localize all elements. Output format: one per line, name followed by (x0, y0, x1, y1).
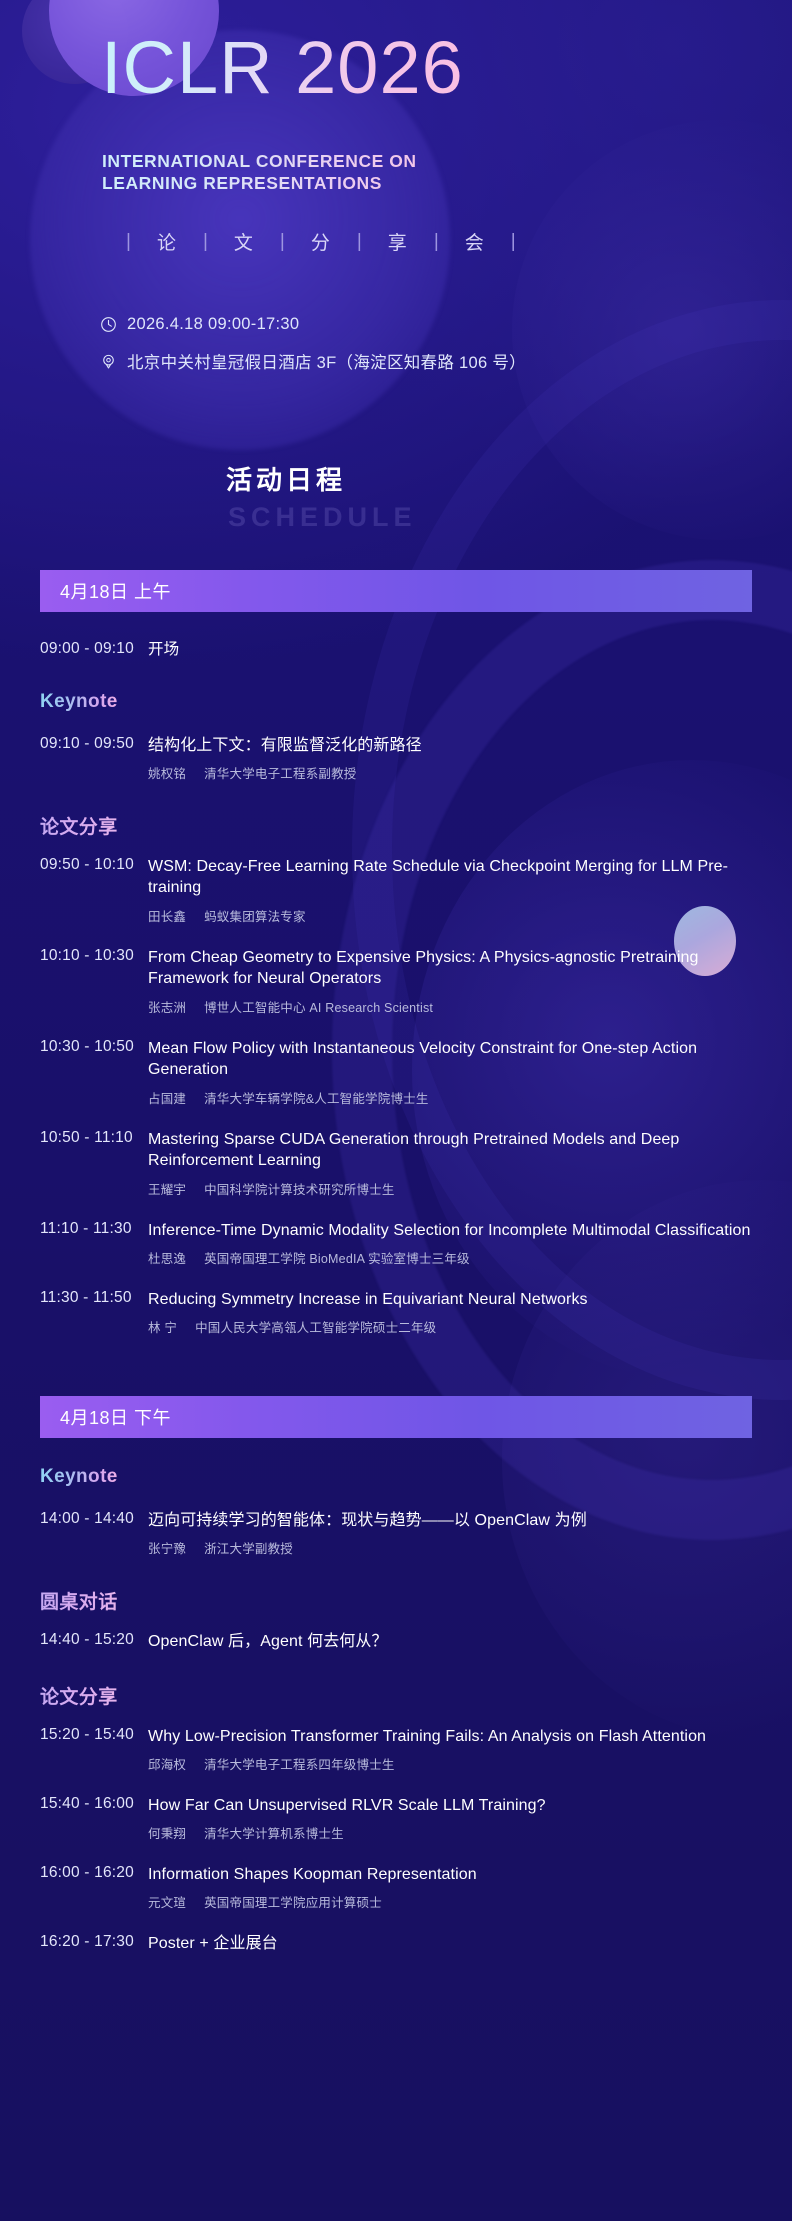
schedule-item: 14:00 - 14:40迈向可持续学习的智能体：现状与趋势——以 OpenCl… (40, 1510, 752, 1557)
schedule-item-time: 10:30 - 10:50 (40, 1038, 134, 1056)
schedule-item-title: From Cheap Geometry to Expensive Physics… (148, 947, 752, 990)
schedule-item-title: OpenClaw 后，Agent 何去何从？ (148, 1631, 752, 1652)
schedule-item-title: 结构化上下文：有限监督泛化的新路径 (148, 735, 752, 756)
schedule-item-speaker: 何秉翔清华大学计算机系博士生 (148, 1823, 752, 1842)
speaker-name: 占国建 (148, 1092, 186, 1106)
speaker-affiliation: 清华大学计算机系博士生 (204, 1827, 344, 1841)
tagline-divider-3: | (331, 231, 388, 253)
schedule-item: 10:10 - 10:30From Cheap Geometry to Expe… (40, 947, 752, 1016)
schedule-item: 16:00 - 16:20Information Shapes Koopman … (40, 1864, 752, 1911)
page-title: ICLR 2026 (101, 31, 464, 105)
schedule-item-body: How Far Can Unsupervised RLVR Scale LLM … (148, 1795, 752, 1842)
chinese-tagline: | 论 | 文 | 分 | 享 | 会 | (100, 228, 542, 255)
event-datetime-row: 2026.4.18 09:00-17:30 (100, 315, 526, 334)
schedule-item-time: 09:50 - 10:10 (40, 856, 134, 874)
schedule-item-speaker: 张志洲博世人工智能中心 AI Research Scientist (148, 997, 752, 1016)
schedule-item-time: 11:30 - 11:50 (40, 1289, 132, 1307)
tagline-divider-4: | (408, 231, 465, 253)
schedule-item: 15:20 - 15:40Why Low-Precision Transform… (40, 1726, 752, 1773)
schedule-item-time: 14:40 - 15:20 (40, 1631, 134, 1649)
day-section-label: 4月18日 上午 (60, 578, 171, 604)
speaker-name: 王耀宇 (148, 1183, 186, 1197)
schedule-item-title: Mastering Sparse CUDA Generation through… (148, 1129, 752, 1172)
tagline-char-1: 文 (234, 228, 254, 255)
schedule-item: 11:10 - 11:30Inference-Time Dynamic Moda… (40, 1220, 752, 1267)
tagline-char-2: 分 (311, 228, 331, 255)
speaker-name: 何秉翔 (148, 1827, 186, 1841)
speaker-affiliation: 英国帝国理工学院 BioMedIA 实验室博士三年级 (204, 1252, 470, 1266)
schedule-item-body: Inference-Time Dynamic Modality Selectio… (148, 1220, 752, 1267)
tagline-divider-5: | (485, 231, 542, 253)
session-group-label: 论文分享 (40, 812, 118, 839)
session-group-label: 圆桌对话 (40, 1587, 118, 1614)
schedule-heading-title: 活动日程 (226, 460, 346, 497)
speaker-affiliation: 中国科学院计算技术研究所博士生 (204, 1183, 395, 1197)
schedule-item-speaker: 杜思逸英国帝国理工学院 BioMedIA 实验室博士三年级 (148, 1248, 752, 1267)
schedule-item-time: 16:00 - 16:20 (40, 1864, 134, 1882)
conference-subtitle: INTERNATIONAL CONFERENCE ON LEARNING REP… (102, 150, 502, 194)
schedule-item-time: 15:20 - 15:40 (40, 1726, 134, 1744)
schedule-item-title: Mean Flow Policy with Instantaneous Velo… (148, 1038, 752, 1081)
speaker-affiliation: 清华大学电子工程系四年级博士生 (204, 1758, 395, 1772)
schedule-item-body: Mean Flow Policy with Instantaneous Velo… (148, 1038, 752, 1107)
schedule-item-speaker: 张宁豫浙江大学副教授 (148, 1538, 752, 1557)
schedule-item: 11:30 - 11:50Reducing Symmetry Increase … (40, 1289, 752, 1336)
schedule-item: 09:10 - 09:50结构化上下文：有限监督泛化的新路径姚权铭清华大学电子工… (40, 735, 752, 782)
speaker-name: 田长鑫 (148, 910, 186, 924)
speaker-affiliation: 中国人民大学高瓴人工智能学院硕士二年级 (195, 1321, 436, 1335)
event-location: 北京中关村皇冠假日酒店 3F（海淀区知春路 106 号） (127, 349, 526, 373)
schedule-item-body: Mastering Sparse CUDA Generation through… (148, 1129, 752, 1198)
session-group-label: Keynote (40, 1466, 118, 1488)
schedule-heading: SCHEDULE 活动日程 (0, 455, 792, 535)
speaker-affiliation: 浙江大学副教授 (204, 1542, 293, 1556)
tagline-divider-2: | (254, 231, 311, 253)
speaker-affiliation: 蚂蚁集团算法专家 (204, 910, 306, 924)
schedule-item: 10:30 - 10:50Mean Flow Policy with Insta… (40, 1038, 752, 1107)
event-location-row: 北京中关村皇冠假日酒店 3F（海淀区知春路 106 号） (100, 349, 526, 373)
day-section-label: 4月18日 下午 (60, 1404, 171, 1430)
schedule-item-time: 10:10 - 10:30 (40, 947, 134, 965)
day-section-header: 4月18日 下午 (40, 1396, 752, 1438)
schedule-item: 09:00 - 09:10开场 (40, 640, 752, 661)
schedule-item-title: Information Shapes Koopman Representatio… (148, 1864, 752, 1885)
schedule-item-time: 11:10 - 11:30 (40, 1220, 132, 1238)
tagline-char-0: 论 (157, 228, 177, 255)
schedule-item-time: 16:20 - 17:30 (40, 1933, 134, 1951)
schedule-item-title: Why Low-Precision Transformer Training F… (148, 1726, 752, 1747)
schedule-item-speaker: 元文瑄英国帝国理工学院应用计算硕士 (148, 1892, 752, 1911)
clock-icon (100, 316, 117, 333)
speaker-name: 张志洲 (148, 1001, 186, 1015)
schedule-item-title: How Far Can Unsupervised RLVR Scale LLM … (148, 1795, 752, 1816)
speaker-affiliation: 博世人工智能中心 AI Research Scientist (204, 1001, 433, 1015)
day-section-header: 4月18日 上午 (40, 570, 752, 612)
schedule-item-body: 结构化上下文：有限监督泛化的新路径姚权铭清华大学电子工程系副教授 (148, 735, 752, 782)
tagline-char-3: 享 (388, 228, 408, 255)
schedule-item-speaker: 邱海权清华大学电子工程系四年级博士生 (148, 1754, 752, 1773)
schedule-item-body: From Cheap Geometry to Expensive Physics… (148, 947, 752, 1016)
schedule-item-time: 09:00 - 09:10 (40, 640, 134, 658)
schedule-item-title: Reducing Symmetry Increase in Equivarian… (148, 1289, 752, 1310)
schedule-item-body: Why Low-Precision Transformer Training F… (148, 1726, 752, 1773)
schedule-item-body: 开场 (148, 640, 752, 661)
schedule-heading-ghost: SCHEDULE (228, 502, 417, 533)
schedule-item-body: Information Shapes Koopman Representatio… (148, 1864, 752, 1911)
schedule-item-speaker: 姚权铭清华大学电子工程系副教授 (148, 763, 752, 782)
schedule-item-speaker: 占国建清华大学车辆学院&人工智能学院博士生 (148, 1088, 752, 1107)
schedule-item-title: 迈向可持续学习的智能体：现状与趋势——以 OpenClaw 为例 (148, 1510, 752, 1531)
schedule-item: 16:20 - 17:30Poster + 企业展台 (40, 1933, 752, 1954)
schedule-item: 14:40 - 15:20OpenClaw 后，Agent 何去何从？ (40, 1631, 752, 1652)
tagline-char-4: 会 (465, 228, 485, 255)
event-meta: 2026.4.18 09:00-17:30 北京中关村皇冠假日酒店 3F（海淀区… (100, 315, 526, 388)
schedule-item-title: Poster + 企业展台 (148, 1933, 752, 1954)
event-datetime: 2026.4.18 09:00-17:30 (127, 315, 299, 334)
schedule-item-body: Poster + 企业展台 (148, 1933, 752, 1954)
schedule-item-body: Reducing Symmetry Increase in Equivarian… (148, 1289, 752, 1336)
schedule-item-title: WSM: Decay-Free Learning Rate Schedule v… (148, 856, 752, 899)
speaker-name: 元文瑄 (148, 1896, 186, 1910)
schedule-item: 09:50 - 10:10WSM: Decay-Free Learning Ra… (40, 856, 752, 925)
schedule-item-body: WSM: Decay-Free Learning Rate Schedule v… (148, 856, 752, 925)
schedule-item-time: 14:00 - 14:40 (40, 1510, 134, 1528)
speaker-affiliation: 英国帝国理工学院应用计算硕士 (204, 1896, 382, 1910)
speaker-name: 张宁豫 (148, 1542, 186, 1556)
session-group-label: 论文分享 (40, 1682, 118, 1709)
schedule-item: 15:40 - 16:00How Far Can Unsupervised RL… (40, 1795, 752, 1842)
speaker-name: 林 宁 (148, 1321, 177, 1335)
speaker-name: 邱海权 (148, 1758, 186, 1772)
schedule-item-title: 开场 (148, 640, 752, 661)
schedule-item-time: 09:10 - 09:50 (40, 735, 134, 753)
speaker-name: 姚权铭 (148, 767, 186, 781)
schedule-item-speaker: 田长鑫蚂蚁集团算法专家 (148, 906, 752, 925)
location-pin-icon (100, 353, 117, 370)
speaker-affiliation: 清华大学车辆学院&人工智能学院博士生 (204, 1092, 428, 1106)
tagline-divider-1: | (177, 231, 234, 253)
schedule-item: 10:50 - 11:10Mastering Sparse CUDA Gener… (40, 1129, 752, 1198)
schedule-item-body: OpenClaw 后，Agent 何去何从？ (148, 1631, 752, 1652)
session-group-label: Keynote (40, 691, 118, 713)
schedule-item-speaker: 王耀宇中国科学院计算技术研究所博士生 (148, 1179, 752, 1198)
schedule-item-body: 迈向可持续学习的智能体：现状与趋势——以 OpenClaw 为例张宁豫浙江大学副… (148, 1510, 752, 1557)
speaker-name: 杜思逸 (148, 1252, 186, 1266)
schedule-item-time: 10:50 - 11:10 (40, 1129, 133, 1147)
speaker-affiliation: 清华大学电子工程系副教授 (204, 767, 356, 781)
schedule-item-time: 15:40 - 16:00 (40, 1795, 134, 1813)
tagline-divider-0: | (100, 231, 157, 253)
schedule-item-speaker: 林 宁中国人民大学高瓴人工智能学院硕士二年级 (148, 1317, 752, 1336)
schedule-item-title: Inference-Time Dynamic Modality Selectio… (148, 1220, 752, 1241)
